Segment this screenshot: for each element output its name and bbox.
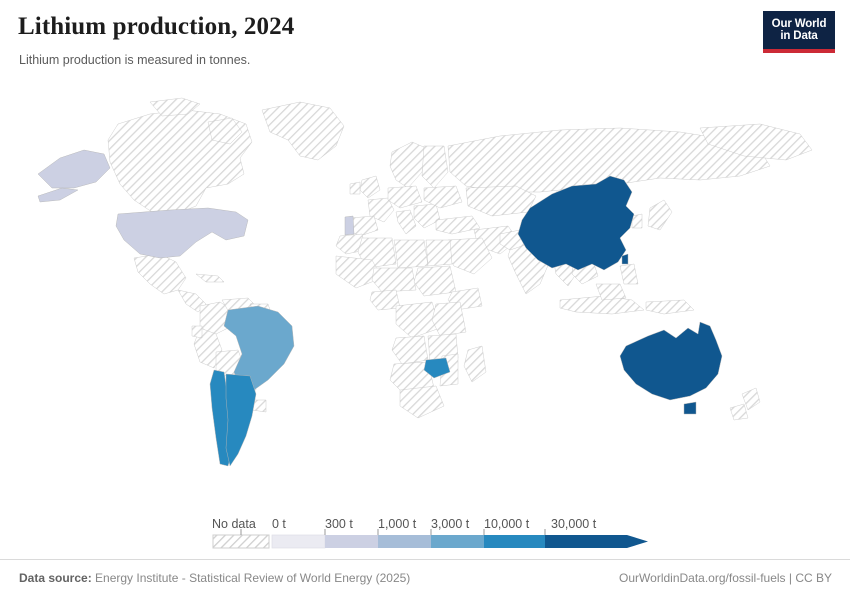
country-cuba[interactable] [196, 274, 224, 282]
legend-tick-3: 3,000 t [431, 517, 470, 531]
data-source-text: Energy Institute - Statistical Review of… [92, 571, 411, 585]
legend-tick-2: 1,000 t [378, 517, 417, 531]
country-united-states-alaska[interactable] [38, 150, 110, 188]
country-philippines[interactable] [620, 264, 638, 284]
legend-tick-0: 0 t [272, 517, 286, 531]
country-ireland[interactable] [350, 182, 360, 194]
choropleth-map[interactable] [0, 88, 850, 503]
country-turkey[interactable] [436, 216, 480, 234]
country-greenland[interactable] [262, 102, 344, 160]
legend-band-3[interactable] [431, 535, 484, 548]
country-new-zealand-south[interactable] [730, 404, 748, 420]
country-australia[interactable] [620, 322, 722, 400]
owid-logo[interactable]: Our World in Data [763, 11, 835, 53]
country-united-states-aleutians[interactable] [38, 188, 78, 202]
legend-band-4[interactable] [484, 535, 545, 548]
country-italy[interactable] [396, 210, 416, 234]
chart-footer: Data source: Energy Institute - Statisti… [0, 560, 850, 600]
country-nigeria[interactable] [370, 290, 400, 310]
country-portugal[interactable] [345, 216, 354, 235]
legend-svg: No data 0 t 300 t 1,000 t 3,000 t 10,000… [0, 505, 850, 555]
chart-header: Lithium production, 2024 Lithium product… [0, 0, 850, 92]
world-map-svg[interactable] [0, 88, 850, 503]
country-niger-chad[interactable] [372, 268, 416, 292]
legend-band-5[interactable] [545, 535, 648, 548]
legend-band-0[interactable] [272, 535, 325, 548]
country-libya[interactable] [394, 240, 428, 268]
country-mexico[interactable] [134, 254, 186, 294]
country-uk[interactable] [360, 176, 380, 198]
country-scandinavia[interactable] [390, 142, 426, 188]
chart-subtitle: Lithium production is measured in tonnes… [19, 53, 250, 67]
legend-no-data-swatch[interactable] [213, 535, 269, 548]
country-ecuador[interactable] [192, 326, 202, 338]
country-kazakhstan[interactable] [466, 186, 536, 216]
legend-tick-4: 10,000 t [484, 517, 530, 531]
country-new-guinea[interactable] [646, 300, 694, 314]
country-tasmania[interactable] [684, 402, 696, 414]
country-sudan[interactable] [414, 266, 456, 296]
map-legend: No data 0 t 300 t 1,000 t 3,000 t 10,000… [0, 505, 850, 555]
page-title: Lithium production, 2024 [18, 13, 294, 41]
country-taiwan[interactable] [622, 254, 628, 264]
country-japan[interactable] [648, 200, 672, 230]
data-source-note: Data source: Energy Institute - Statisti… [19, 571, 410, 585]
country-finland-baltics[interactable] [422, 146, 448, 188]
owid-logo-line-1: Our World [772, 18, 827, 30]
country-south-africa[interactable] [400, 386, 444, 418]
country-east-africa[interactable] [432, 302, 466, 336]
country-united-states[interactable] [116, 208, 248, 258]
data-source-label: Data source: [19, 571, 92, 585]
legend-tick-5: 30,000 t [551, 517, 597, 531]
country-argentina[interactable] [226, 374, 256, 466]
map-countries-nodata [0, 98, 850, 503]
legend-band-1[interactable] [325, 535, 378, 548]
license-note[interactable]: OurWorldinData.org/fossil-fuels | CC BY [619, 571, 832, 585]
country-angola[interactable] [392, 336, 428, 364]
country-germany-poland[interactable] [388, 186, 422, 208]
legend-bands[interactable] [272, 535, 648, 548]
legend-tick-1: 300 t [325, 517, 353, 531]
country-madagascar[interactable] [464, 346, 486, 382]
country-egypt[interactable] [426, 240, 452, 266]
legend-band-2[interactable] [378, 535, 431, 548]
owid-logo-line-2: in Data [780, 30, 817, 42]
legend-no-data-label: No data [212, 517, 256, 531]
